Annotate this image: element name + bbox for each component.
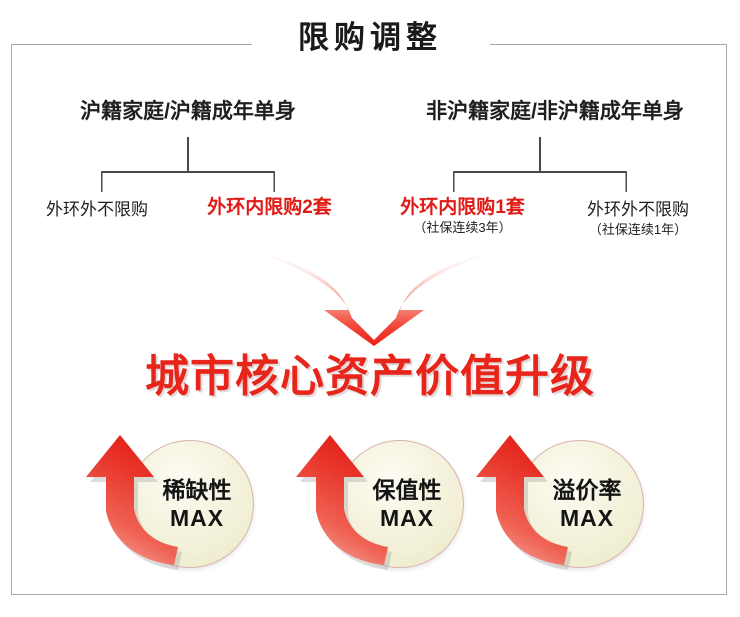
badge-value-retention: 保值性 MAX xyxy=(288,425,488,585)
restriction-note: （社保连续3年） xyxy=(375,219,550,237)
down-arrow-icon xyxy=(228,248,520,348)
badge-label-en: MAX xyxy=(380,504,434,532)
badge-label-cn: 溢价率 xyxy=(553,477,622,504)
badge-label-en: MAX xyxy=(170,504,224,532)
restriction-note: （社保连续1年） xyxy=(558,221,718,239)
category-header-non-hu-registered: 非沪籍家庭/非沪籍成年单身 xyxy=(370,95,740,125)
badge-label-cn: 保值性 xyxy=(373,477,442,504)
headline: 城市核心资产价值升级 xyxy=(0,352,740,403)
restriction-label: 外环内限购1套 xyxy=(375,197,550,219)
badge-label-cn: 稀缺性 xyxy=(163,477,232,504)
category-header-hu-registered: 沪籍家庭/沪籍成年单身 xyxy=(0,95,376,125)
badge-scarcity: 稀缺性 MAX xyxy=(78,425,278,585)
restriction-item: 外环内限购1套 （社保连续3年） xyxy=(375,197,550,237)
restriction-label: 外环内限购2套 xyxy=(182,197,357,219)
page-title: 限购调整 xyxy=(0,21,740,55)
badge-premium-rate: 溢价率 MAX xyxy=(468,425,668,585)
restriction-item: 外环内限购2套 xyxy=(182,197,357,219)
restriction-item: 外环外不限购 （社保连续1年） xyxy=(558,199,718,239)
badge-labels: 溢价率 MAX xyxy=(516,440,644,568)
badge-labels: 稀缺性 MAX xyxy=(126,440,254,568)
badge-labels: 保值性 MAX xyxy=(336,440,464,568)
restriction-item: 外环外不限购 xyxy=(22,199,172,221)
restriction-label: 外环外不限购 xyxy=(22,199,172,221)
badge-label-en: MAX xyxy=(560,504,614,532)
restriction-label: 外环外不限购 xyxy=(558,199,718,221)
